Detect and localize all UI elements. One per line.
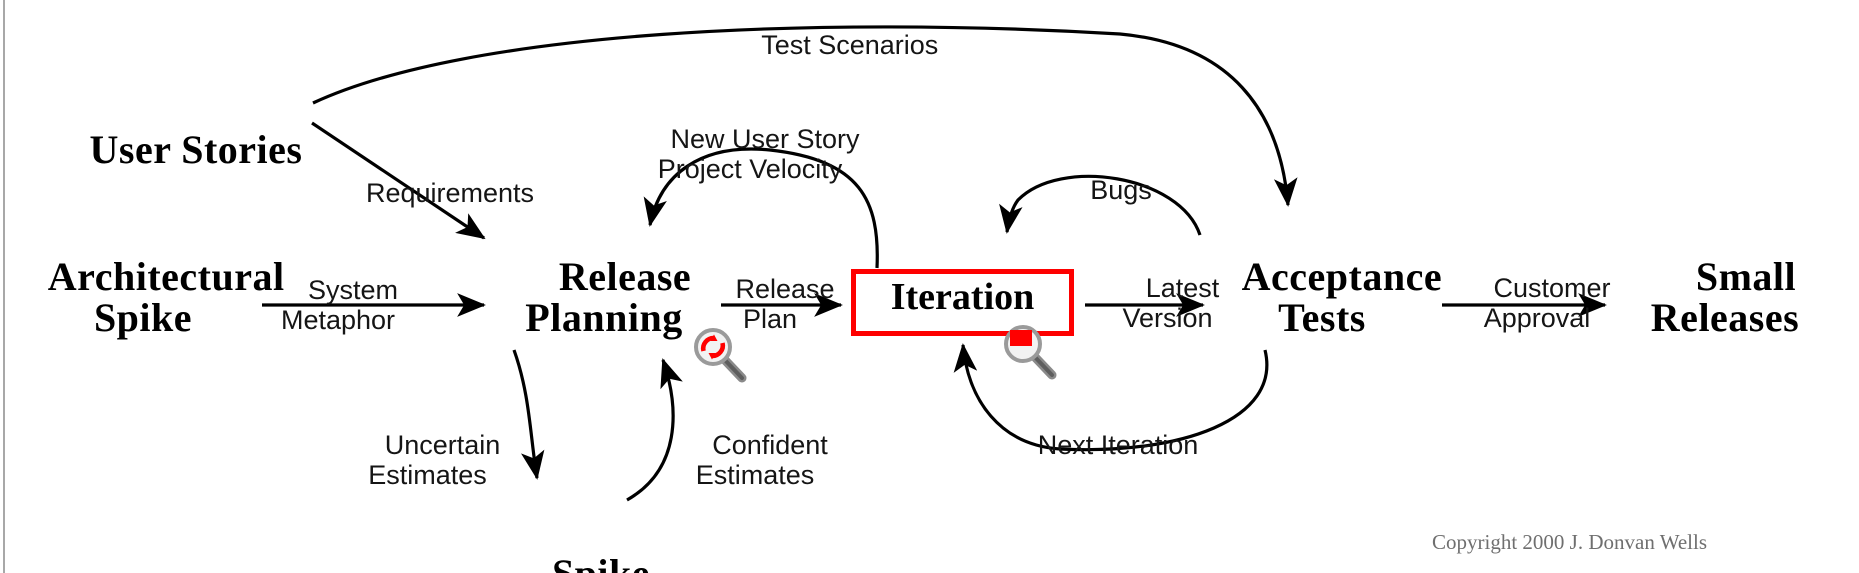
magnifier-block-icon[interactable] [1000, 322, 1062, 384]
node-architectural-spike-label: Architectural Spike [48, 254, 285, 340]
edge-label-test-scenarios: Test Scenarios [685, 0, 985, 91]
node-iteration-label: Iteration [851, 278, 1074, 316]
node-acceptance-tests-label: Acceptance Tests [1242, 254, 1442, 340]
edge-label-latest-version: Latest Version [1085, 243, 1250, 364]
node-small-releases-label: Small Releases [1651, 254, 1799, 340]
edge-label-latest-version-text: Latest Version [1122, 273, 1219, 333]
node-user-stories-label: User Stories [90, 127, 303, 172]
node-release-planning-label: Release Planning [525, 254, 691, 340]
edge-label-next-iteration: Next Iteration [988, 400, 1218, 491]
xp-flow-diagram: User Stories Architectural Spike Release… [0, 0, 1859, 573]
edge-label-requirements: Requirements [320, 148, 550, 239]
node-spike: Spike [480, 512, 680, 573]
edge-label-test-scenarios-text: Test Scenarios [761, 30, 938, 60]
node-spike-label: Spike [552, 551, 650, 573]
edge-label-bugs-text: Bugs [1090, 175, 1152, 205]
magnifier-loop-icon[interactable] [690, 325, 752, 387]
left-edge-rule [3, 0, 5, 573]
node-architectural-spike: Architectural Spike [8, 215, 278, 380]
edge-label-new-user-story-text: New User Story Project Velocity [658, 124, 860, 184]
edge-label-system-metaphor-text: System Metaphor [281, 275, 398, 335]
edge-label-confident-estimates: Confident Estimates [660, 400, 850, 521]
edge-label-system-metaphor: System Metaphor [258, 245, 418, 366]
copyright-notice: Copyright 2000 J. Donvan Wells [1432, 530, 1707, 555]
edge-label-confident-estimates-text: Confident Estimates [696, 430, 828, 490]
node-small-releases: Small Releases [1600, 215, 1850, 380]
edge-label-next-iteration-text: Next Iteration [1038, 430, 1199, 460]
node-release-planning: Release Planning [484, 215, 724, 380]
edge-label-requirements-text: Requirements [366, 178, 534, 208]
edge-label-uncertain-estimates-text: Uncertain Estimates [368, 430, 500, 490]
edge-label-customer-approval: Customer Approval [1442, 243, 1632, 364]
edge-label-customer-approval-text: Customer Approval [1484, 273, 1611, 333]
edge-label-bugs: Bugs [1046, 145, 1166, 236]
edge-label-uncertain-estimates: Uncertain Estimates [335, 400, 520, 521]
node-user-stories: User Stories [40, 88, 310, 212]
edge-label-new-user-story: New User Story Project Velocity [620, 94, 880, 215]
